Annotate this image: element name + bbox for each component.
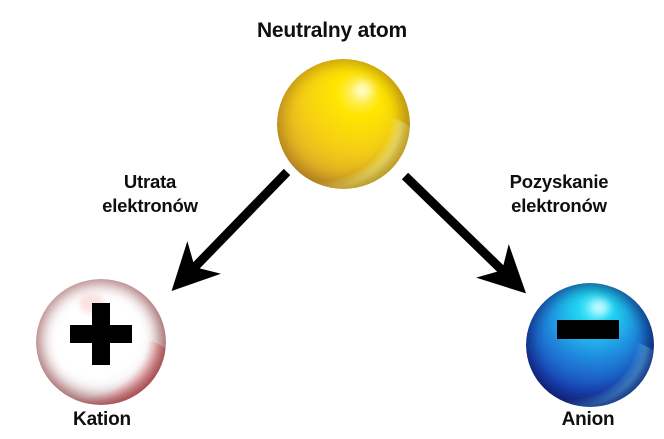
gain-electrons-label: Pozyskanie elektronów (464, 170, 654, 217)
ion-formation-diagram: Neutralny atom Utrata elektronów Pozyska… (0, 0, 664, 439)
neutral-atom-title: Neutralny atom (0, 18, 664, 45)
anion-sphere-body (526, 283, 654, 407)
neutral-atom-sphere-body (277, 59, 410, 189)
minus-charge-icon (557, 320, 619, 339)
anion-label: Anion (508, 408, 664, 432)
anion-sphere (526, 283, 654, 407)
neutral-atom-sphere (277, 59, 410, 189)
plus-charge-icon (70, 303, 132, 365)
plus-vertical-bar (92, 303, 110, 365)
cation-label: Kation (22, 408, 182, 432)
loss-electrons-label: Utrata elektronów (60, 170, 240, 217)
